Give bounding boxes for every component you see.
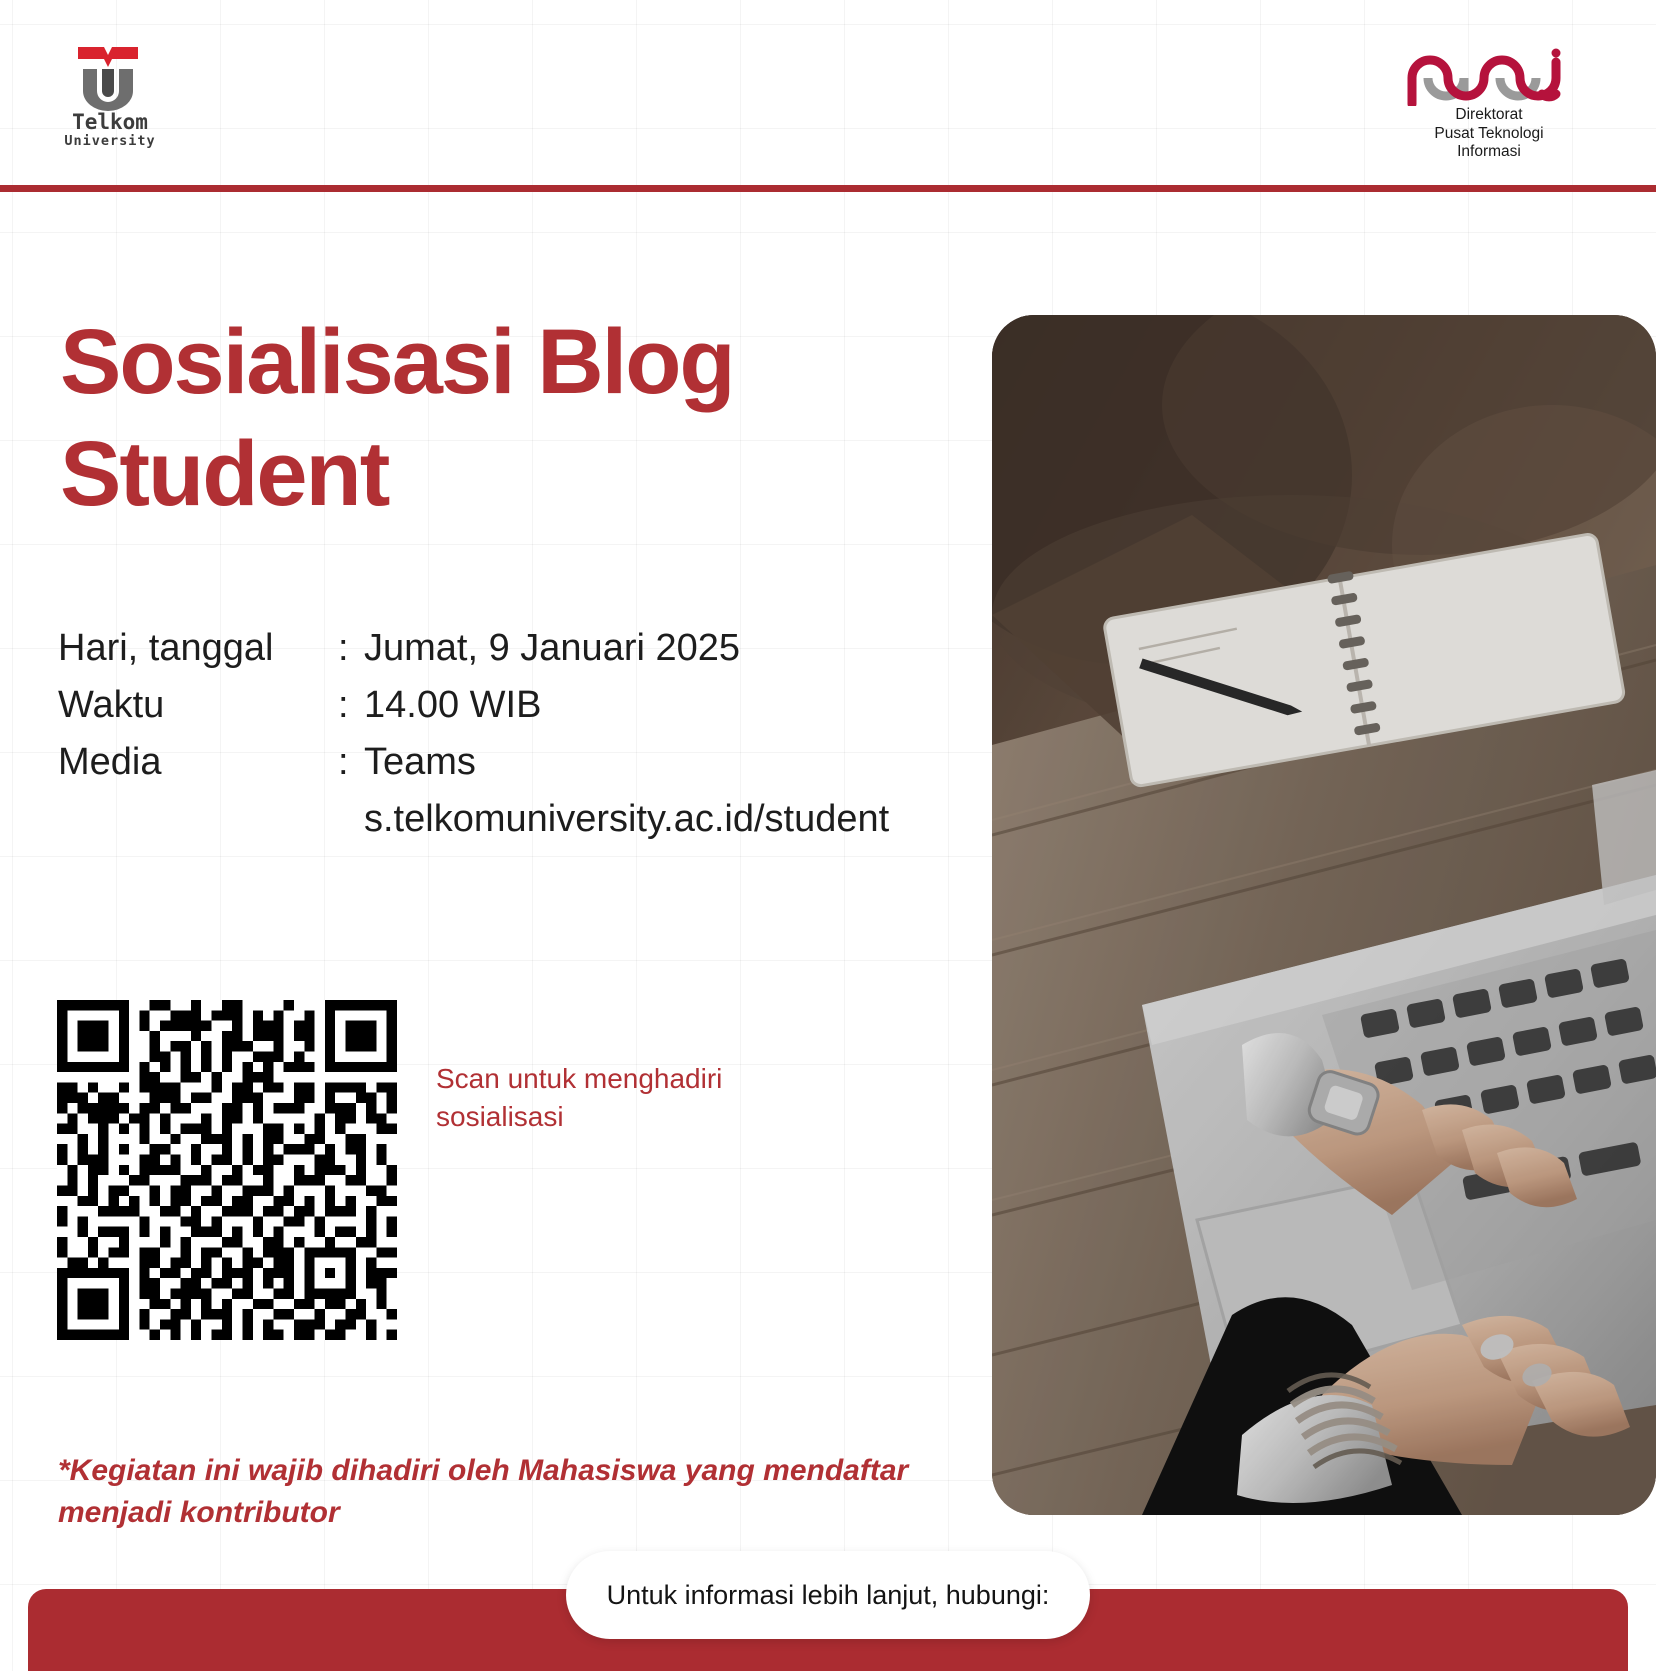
detail-value-media: Teams bbox=[364, 734, 958, 791]
telkom-u-icon bbox=[83, 69, 133, 111]
poster-header: Telkom University Direktorat Pusat Tekno… bbox=[0, 0, 1656, 190]
puti-logo: Direktorat Pusat Teknologi Informasi bbox=[1384, 48, 1594, 158]
detail-separator-media: : bbox=[338, 734, 364, 791]
puti-subtitle-line-2: Pusat Teknologi bbox=[1384, 125, 1594, 144]
photo-illustration bbox=[992, 315, 1656, 1515]
puti-subtitle-line-1: Direktorat bbox=[1384, 106, 1594, 125]
detail-row-media: Media : Teams bbox=[58, 734, 958, 791]
qr-caption-line-1: Scan untuk menghadiri bbox=[436, 1060, 796, 1098]
poster-canvas: Telkom University Direktorat Pusat Tekno… bbox=[0, 0, 1656, 1671]
footer-contact-text: Untuk informasi lebih lanjut, hubungi: bbox=[607, 1580, 1050, 1611]
footnote: *Kegiatan ini wajib dihadiri oleh Mahasi… bbox=[58, 1450, 938, 1534]
page-title-line-1: Sosialisasi Blog bbox=[60, 306, 920, 418]
qr-code[interactable] bbox=[57, 1000, 397, 1340]
event-details: Hari, tanggal : Jumat, 9 Januari 2025 Wa… bbox=[58, 620, 958, 848]
detail-label-media: Media bbox=[58, 734, 338, 791]
detail-value-media-url[interactable]: s.telkomuniversity.ac.id/student bbox=[364, 791, 958, 848]
page-title: Sosialisasi Blog Student bbox=[60, 306, 920, 530]
puti-logo-subtitle: Direktorat Pusat Teknologi Informasi bbox=[1384, 106, 1594, 162]
detail-separator-date: : bbox=[338, 620, 364, 677]
telkom-logo-word-university: University bbox=[50, 133, 170, 149]
detail-row-time: Waktu : 14.00 WIB bbox=[58, 677, 958, 734]
puti-subtitle-line-3: Informasi bbox=[1384, 143, 1594, 162]
telkom-university-logo: Telkom University bbox=[50, 45, 170, 150]
footnote-line-1: *Kegiatan ini wajib dihadiri oleh Mahasi… bbox=[58, 1450, 938, 1492]
footnote-line-2: menjadi kontributor bbox=[58, 1492, 938, 1534]
detail-value-date: Jumat, 9 Januari 2025 bbox=[364, 620, 958, 677]
qr-code-image bbox=[57, 1000, 397, 1340]
detail-label-time: Waktu bbox=[58, 677, 338, 734]
qr-caption: Scan untuk menghadiri sosialisasi bbox=[436, 1060, 796, 1136]
telkom-logo-word-telkom: Telkom bbox=[50, 111, 170, 133]
detail-value-time: 14.00 WIB bbox=[364, 677, 958, 734]
header-divider bbox=[0, 185, 1656, 192]
detail-separator-time: : bbox=[338, 677, 364, 734]
telkom-book-icon bbox=[78, 47, 138, 71]
puti-wordmark-icon bbox=[1392, 48, 1592, 106]
page-title-line-2: Student bbox=[60, 418, 920, 530]
footer-contact-pill: Untuk informasi lebih lanjut, hubungi: bbox=[566, 1551, 1090, 1639]
qr-caption-line-2: sosialisasi bbox=[436, 1098, 796, 1136]
photo-hands-typing-on-laptop bbox=[992, 315, 1656, 1515]
detail-row-date: Hari, tanggal : Jumat, 9 Januari 2025 bbox=[58, 620, 958, 677]
detail-label-date: Hari, tanggal bbox=[58, 620, 338, 677]
